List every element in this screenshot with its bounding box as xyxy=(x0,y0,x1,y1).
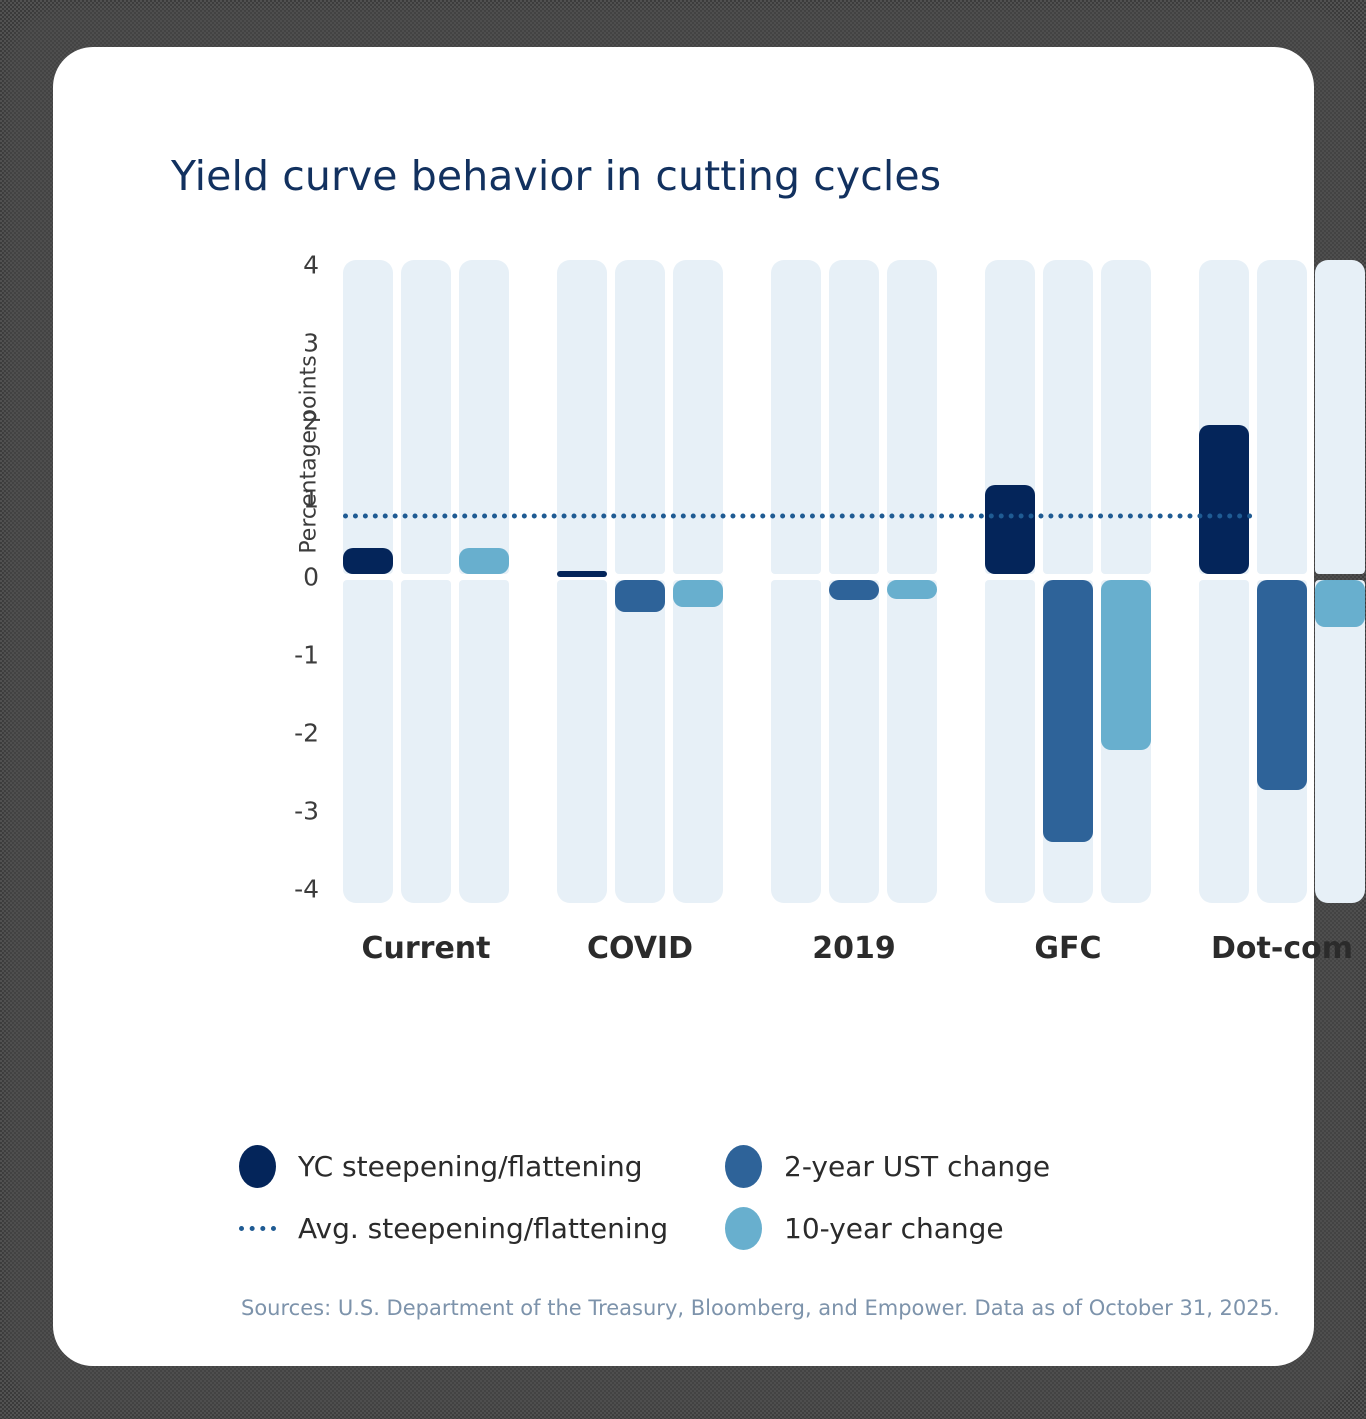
bar-track-positive xyxy=(343,260,393,574)
bar-value xyxy=(1199,425,1249,574)
bar-group xyxy=(771,247,937,907)
average-reference-line xyxy=(343,514,1253,519)
legend-label: YC steepening/flattening xyxy=(298,1150,643,1183)
y-axis-tick-label: 4 xyxy=(259,250,319,279)
legend-item-avg-steepening: Avg. steepening/flattening xyxy=(239,1197,668,1259)
bar-value xyxy=(1315,580,1365,627)
bar-track-negative xyxy=(459,580,509,903)
bar-group xyxy=(343,247,509,907)
bar-value xyxy=(985,485,1035,574)
bar-slot xyxy=(887,247,937,907)
bar-track-positive xyxy=(557,260,607,574)
bar-slot xyxy=(459,247,509,907)
bar-slot xyxy=(401,247,451,907)
legend-label: Avg. steepening/flattening xyxy=(298,1212,668,1245)
bar-track-negative xyxy=(615,580,665,903)
bar-slot xyxy=(1043,247,1093,907)
bar-value xyxy=(1101,580,1151,750)
bar-track-negative xyxy=(401,580,451,903)
bar-track-negative xyxy=(829,580,879,903)
x-axis-category-label: COVID xyxy=(557,931,723,966)
legend-row-1: YC steepening/flattening 2-year UST chan… xyxy=(239,1135,1219,1197)
legend-swatch-dotted-line xyxy=(239,1207,276,1250)
bar-value xyxy=(887,580,937,599)
bar-slot xyxy=(557,247,607,907)
bar-slot xyxy=(673,247,723,907)
legend-swatch-circle-light-blue xyxy=(725,1207,762,1250)
bar-track-negative xyxy=(343,580,393,903)
x-axis-category-label: 2019 xyxy=(771,931,937,966)
plot-area: 43210-1-2-3-4CurrentCOVID2019GFCDot-com xyxy=(337,247,1229,907)
x-axis-category-label: Current xyxy=(343,931,509,966)
bar-group xyxy=(1199,247,1365,907)
bar-track-positive xyxy=(673,260,723,574)
bar-slot xyxy=(771,247,821,907)
bar-value xyxy=(1043,580,1093,842)
chart-legend: YC steepening/flattening 2-year UST chan… xyxy=(239,1135,1219,1259)
y-axis-tick-label: 1 xyxy=(259,484,319,513)
bar-value xyxy=(343,548,393,574)
bar-slot xyxy=(1315,247,1365,907)
sources-note: Sources: U.S. Department of the Treasury… xyxy=(241,1296,1280,1320)
bar-track-positive xyxy=(887,260,937,574)
bar-slot xyxy=(615,247,665,907)
page-title: Yield curve behavior in cutting cycles xyxy=(171,152,941,200)
bar-track-negative xyxy=(1315,580,1365,903)
bar-group xyxy=(557,247,723,907)
bar-track-negative xyxy=(557,580,607,903)
bar-track-positive xyxy=(401,260,451,574)
bar-slot xyxy=(343,247,393,907)
bar-track-negative xyxy=(673,580,723,903)
bar-value xyxy=(615,580,665,612)
bar-group xyxy=(985,247,1151,907)
bar-track-negative xyxy=(1199,580,1249,903)
y-axis-tick-label: 2 xyxy=(259,406,319,435)
bar-track-positive xyxy=(829,260,879,574)
y-axis-tick-label: -1 xyxy=(259,641,319,670)
legend-label: 2-year UST change xyxy=(784,1150,1050,1183)
screenshot-root: Yield curve behavior in cutting cycles P… xyxy=(0,0,1366,1419)
y-axis-tick-label: 0 xyxy=(259,563,319,592)
bar-track-positive xyxy=(1043,260,1093,574)
bar-slot xyxy=(985,247,1035,907)
bar-slot xyxy=(1101,247,1151,907)
bar-value xyxy=(459,548,509,574)
bar-slot xyxy=(1199,247,1249,907)
chart-card: Yield curve behavior in cutting cycles P… xyxy=(53,47,1314,1366)
bar-track-positive xyxy=(459,260,509,574)
chart-figure: Percentage points 43210-1-2-3-4CurrentCO… xyxy=(171,247,1201,947)
y-axis-tick-label: -4 xyxy=(259,875,319,904)
y-axis-tick-label: -2 xyxy=(259,719,319,748)
legend-label: 10-year change xyxy=(784,1212,1004,1245)
bar-value xyxy=(1257,580,1307,790)
y-axis-tick-label: -3 xyxy=(259,797,319,826)
bar-track-positive xyxy=(1101,260,1151,574)
legend-row-2: Avg. steepening/flattening 10-year chang… xyxy=(239,1197,1219,1259)
bar-track-negative xyxy=(771,580,821,903)
bar-value xyxy=(673,580,723,607)
bar-track-negative xyxy=(985,580,1035,903)
legend-swatch-circle-medium-blue xyxy=(725,1145,762,1188)
legend-item-yc-steepening: YC steepening/flattening xyxy=(239,1135,643,1197)
legend-item-2-year-ust-change: 2-year UST change xyxy=(725,1135,1050,1197)
y-axis-tick-label: 3 xyxy=(259,328,319,357)
legend-swatch-circle-navy xyxy=(239,1145,276,1188)
bar-track-negative xyxy=(887,580,937,903)
bar-track-positive xyxy=(1257,260,1307,574)
bar-value xyxy=(557,571,607,577)
bar-slot xyxy=(829,247,879,907)
bar-track-positive xyxy=(1315,260,1365,574)
bar-value xyxy=(829,580,879,600)
bar-track-positive xyxy=(771,260,821,574)
legend-item-10-year-change: 10-year change xyxy=(725,1197,1004,1259)
bar-track-positive xyxy=(615,260,665,574)
x-axis-category-label: Dot-com xyxy=(1199,931,1365,966)
bar-slot xyxy=(1257,247,1307,907)
x-axis-category-label: GFC xyxy=(985,931,1151,966)
